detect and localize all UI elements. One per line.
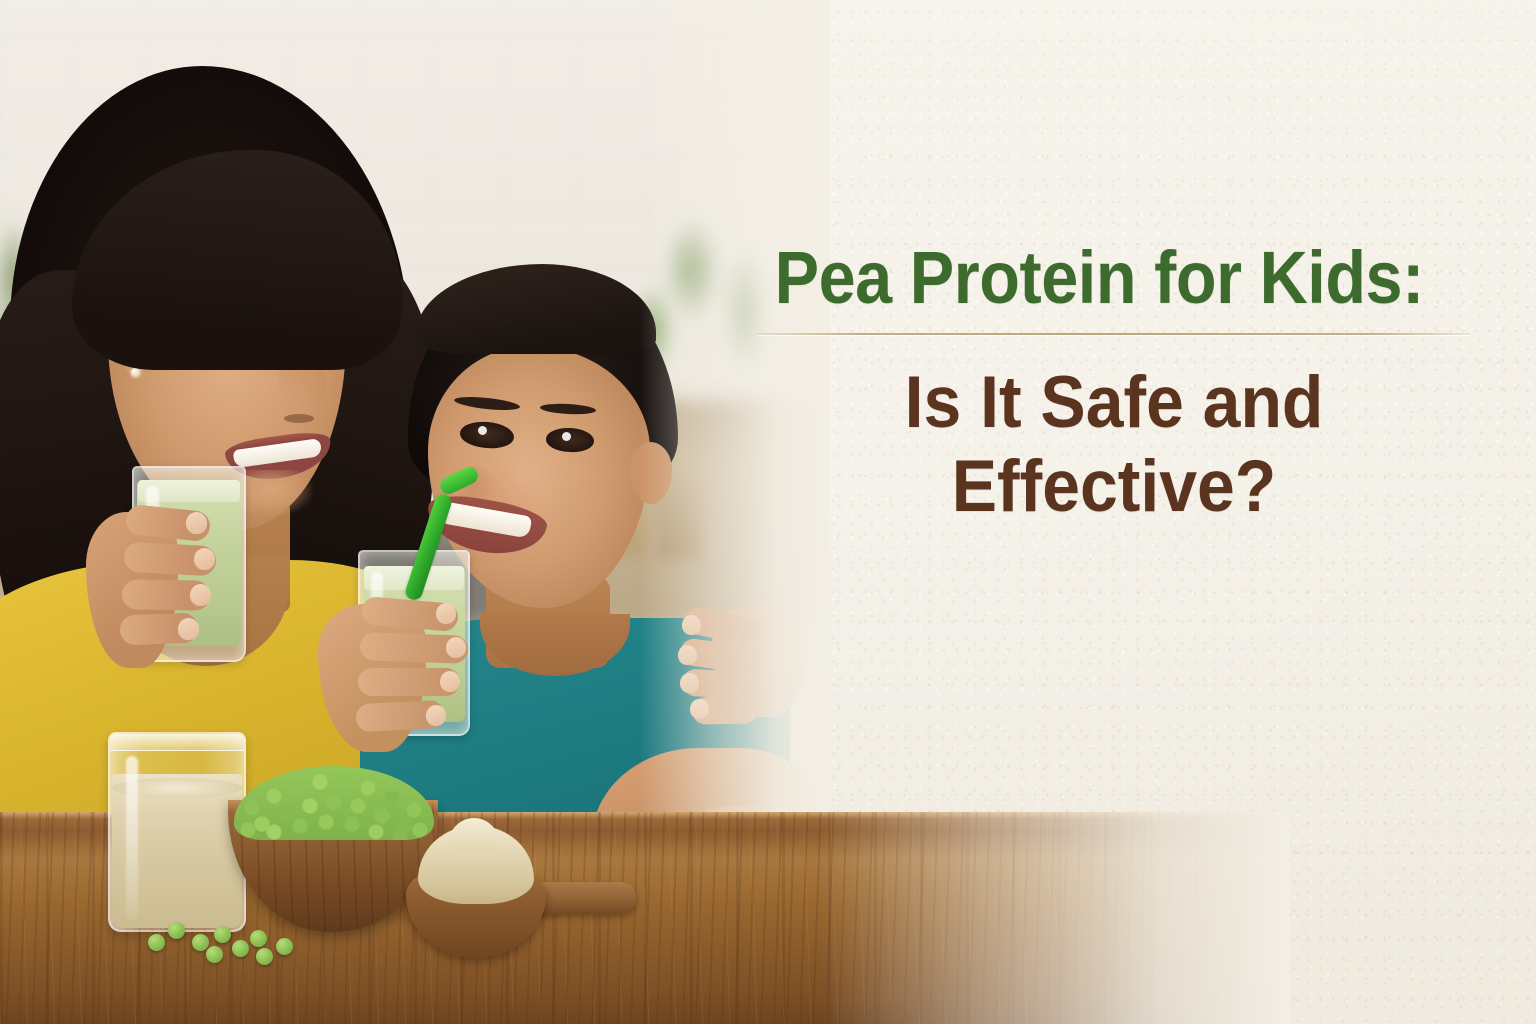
- loose-pea: [214, 926, 231, 943]
- boy-eye-highlight: [562, 432, 571, 441]
- mother-fingernail: [682, 615, 701, 635]
- loose-pea: [168, 922, 185, 939]
- loose-pea: [256, 948, 273, 965]
- table-edge-fade: [820, 812, 1290, 1024]
- mother-fingernail: [190, 584, 211, 606]
- loose-pea: [148, 934, 165, 951]
- boy-fingernail: [436, 603, 456, 624]
- loose-pea: [276, 938, 293, 955]
- loose-pea: [206, 946, 223, 963]
- protein-powder-jar: [108, 732, 246, 932]
- title-divider: [758, 333, 1470, 335]
- mother-earring: [131, 368, 140, 377]
- loose-pea: [250, 930, 267, 947]
- loose-pea: [232, 940, 249, 957]
- mother-fingernail: [194, 548, 215, 570]
- boy-teeth: [438, 501, 532, 539]
- scoop-powder-peak: [448, 818, 500, 852]
- boy-fingernail: [440, 671, 460, 692]
- boy-fingernail: [446, 637, 466, 658]
- jar-rim: [108, 734, 246, 751]
- peas-heap: [234, 766, 434, 840]
- article-banner: Pea Protein for Kids: Is It Safe and Eff…: [0, 0, 1536, 1024]
- mother-hand-holding-glass: [86, 494, 212, 674]
- headline-block: Pea Protein for Kids: Is It Safe and Eff…: [744, 240, 1484, 640]
- loose-pea: [192, 934, 209, 951]
- boy-hair-front: [416, 264, 656, 354]
- mother-fingernail: [678, 645, 697, 665]
- mother-fingernail: [186, 512, 207, 534]
- mother-fingernail: [178, 618, 199, 640]
- boy-ear: [630, 442, 672, 504]
- banner-subtitle: Is It Safe and Effective?: [770, 361, 1458, 529]
- table-props: [0, 690, 700, 1024]
- banner-title: Pea Protein for Kids:: [744, 240, 1410, 315]
- boy-eye-highlight: [478, 426, 487, 435]
- banner-subtitle-line-1: Is It Safe and: [770, 361, 1458, 445]
- jar-glass-highlight: [126, 756, 138, 920]
- banner-subtitle-line-2: Effective?: [770, 445, 1458, 529]
